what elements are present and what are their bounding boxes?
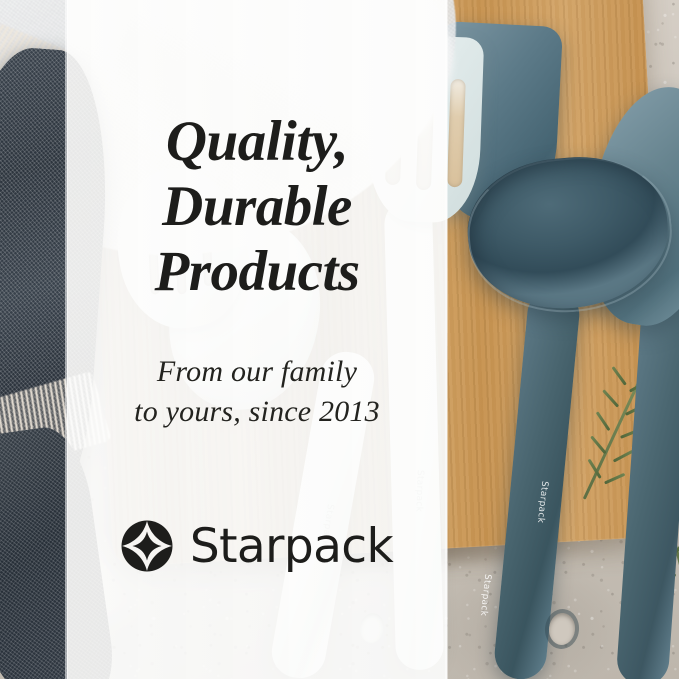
headline-line-3: Products bbox=[67, 240, 447, 305]
banner-content: Quality, Durable Products From our famil… bbox=[67, 0, 447, 679]
headline: Quality, Durable Products bbox=[67, 110, 447, 305]
starpack-brand-banner: Starpack Starpack Starpack Starpack bbox=[0, 0, 679, 679]
starpack-star-icon bbox=[121, 520, 173, 572]
headline-line-2: Durable bbox=[67, 175, 447, 240]
brand-wordmark: Starpack bbox=[190, 523, 393, 570]
subheadline: From our family to yours, since 2013 bbox=[67, 352, 447, 432]
headline-line-1: Quality, bbox=[67, 110, 447, 175]
subheadline-line-1: From our family bbox=[67, 352, 447, 392]
subheadline-line-2: to yours, since 2013 bbox=[67, 392, 447, 432]
brand-logo-lockup: Starpack bbox=[67, 520, 447, 572]
